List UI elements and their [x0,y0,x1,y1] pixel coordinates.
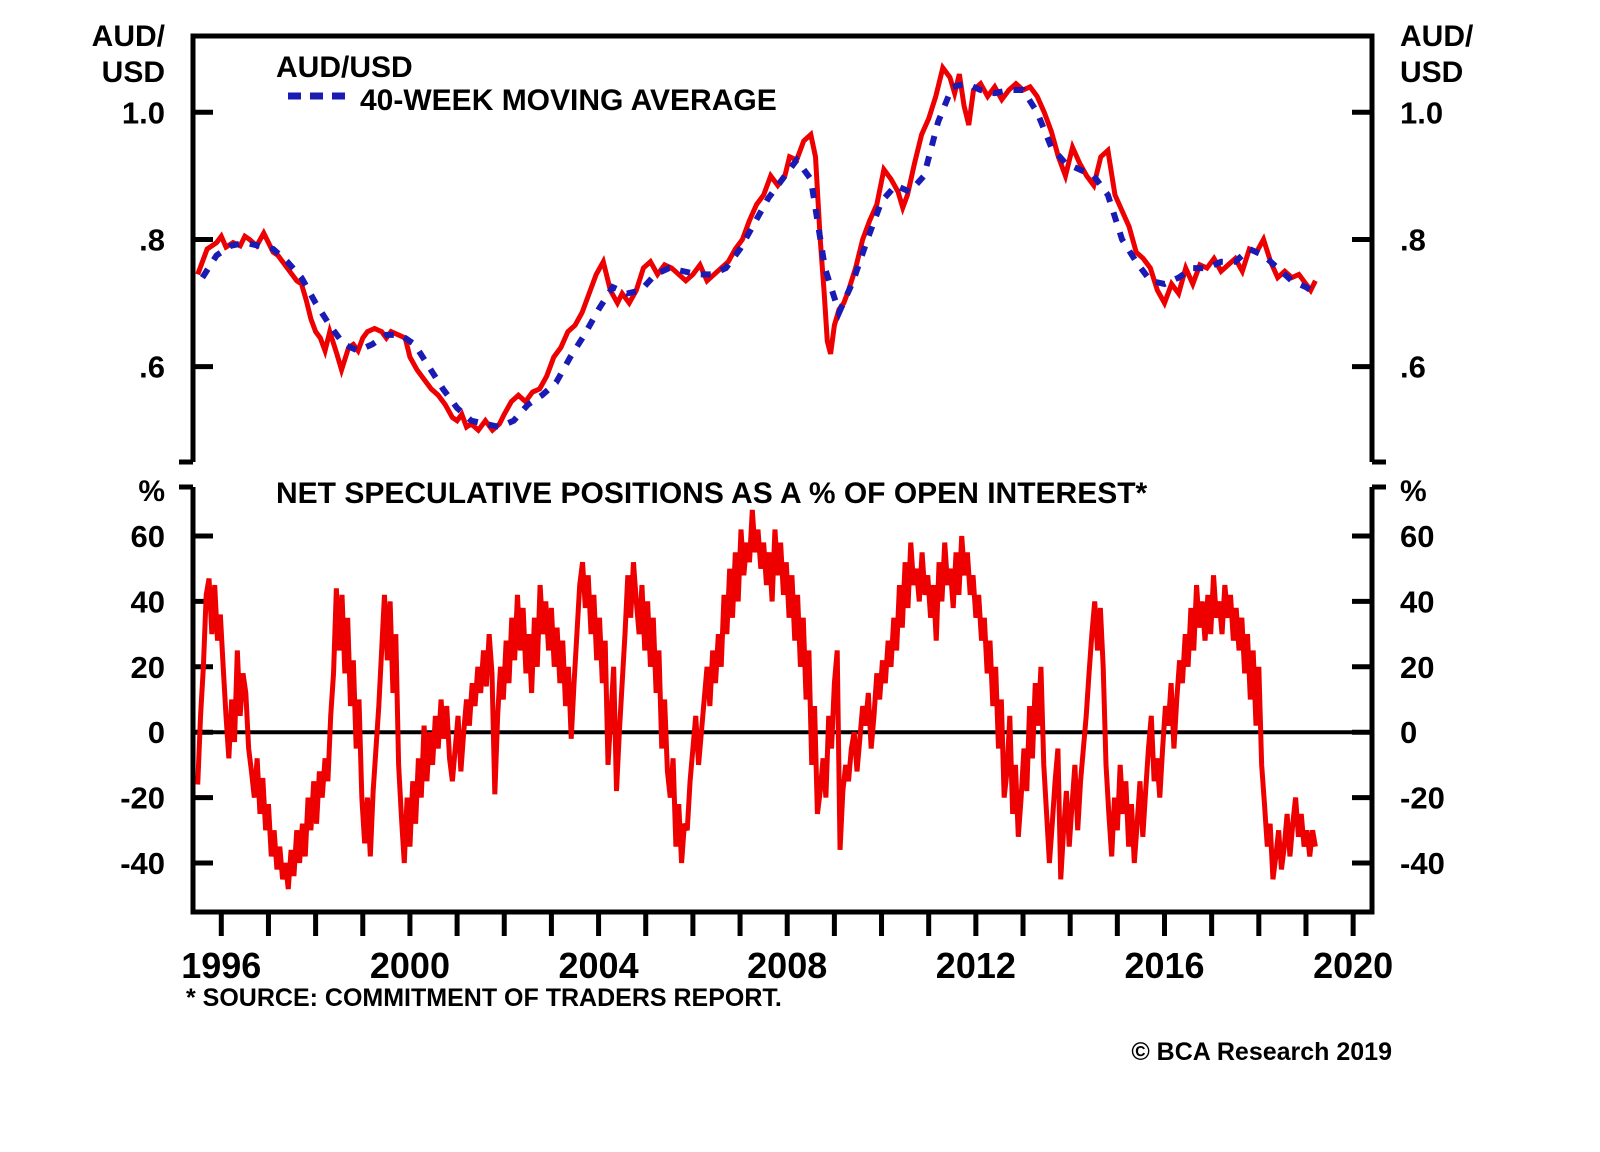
bottom-series-group [198,510,1316,889]
legend-label-aud-usd: AUD/USD [276,51,413,84]
x-tick-label: 2020 [1313,945,1393,986]
x-axis: 1996200020042008201220162020 [181,912,1393,986]
bottom-right-axis-title: % [1400,475,1427,508]
top-panel: 1.01.0.8.8.6.6AUD/USDAUD/USDAUD/USD40-WE… [92,20,1474,462]
copyright-note: © BCA Research 2019 [1131,1038,1392,1066]
x-tick-label: 2008 [747,945,827,986]
x-tick-label: 2012 [936,945,1016,986]
top-ytick-label-left: .6 [139,350,165,385]
x-tick-label: 2000 [370,945,450,986]
bottom-ytick-label-left: 60 [131,519,165,554]
top-right-axis-title-2: USD [1400,56,1463,89]
top-ytick-label-left: .8 [139,222,165,257]
bottom-panel: 60604040202000-20-20-40-40%%NET SPECULAT… [120,475,1445,912]
legend: AUD/USD40-WEEK MOVING AVERAGE [276,51,777,117]
chart-canvas: 1.01.0.8.8.6.6AUD/USDAUD/USDAUD/USD40-WE… [0,0,1600,1152]
bottom-ytick-label-left: 0 [148,715,165,750]
bottom-ytick-label-right: -20 [1400,781,1445,816]
top-ytick-label-left: 1.0 [122,95,165,130]
x-tick-label: 2016 [1124,945,1204,986]
bottom-panel-title: NET SPECULATIVE POSITIONS AS A % OF OPEN… [276,477,1148,510]
top-left-axis-title-2: USD [102,56,165,89]
bottom-left-axis-title: % [138,475,165,508]
chart-figure: 1.01.0.8.8.6.6AUD/USDAUD/USDAUD/USD40-WE… [0,0,1600,1152]
bottom-ytick-label-right: 20 [1400,650,1434,685]
top-left-axis-title-1: AUD/ [92,20,166,53]
bottom-ytick-label-right: 0 [1400,715,1417,750]
top-ytick-label-right: .6 [1400,350,1426,385]
series-moving-average [202,84,1315,427]
bottom-ytick-label-left: -40 [120,846,165,881]
bottom-ytick-label-right: 40 [1400,584,1434,619]
bottom-ytick-label-right: 60 [1400,519,1434,554]
series-net-speculative-positions [198,510,1316,889]
top-ytick-label-right: .8 [1400,222,1426,257]
bottom-ytick-label-left: -20 [120,781,165,816]
x-tick-label: 1996 [181,945,261,986]
top-series-group [198,68,1316,430]
legend-label-moving-average: 40-WEEK MOVING AVERAGE [360,84,777,117]
bottom-ytick-label-left: 20 [131,650,165,685]
series-aud-usd [198,68,1316,430]
top-ytick-label-right: 1.0 [1400,95,1443,130]
x-tick-label: 2004 [559,945,639,986]
top-right-axis-title-1: AUD/ [1400,20,1474,53]
source-note: * SOURCE: COMMITMENT OF TRADERS REPORT. [186,984,782,1012]
bottom-ytick-label-right: -40 [1400,846,1445,881]
bottom-ytick-label-left: 40 [131,584,165,619]
